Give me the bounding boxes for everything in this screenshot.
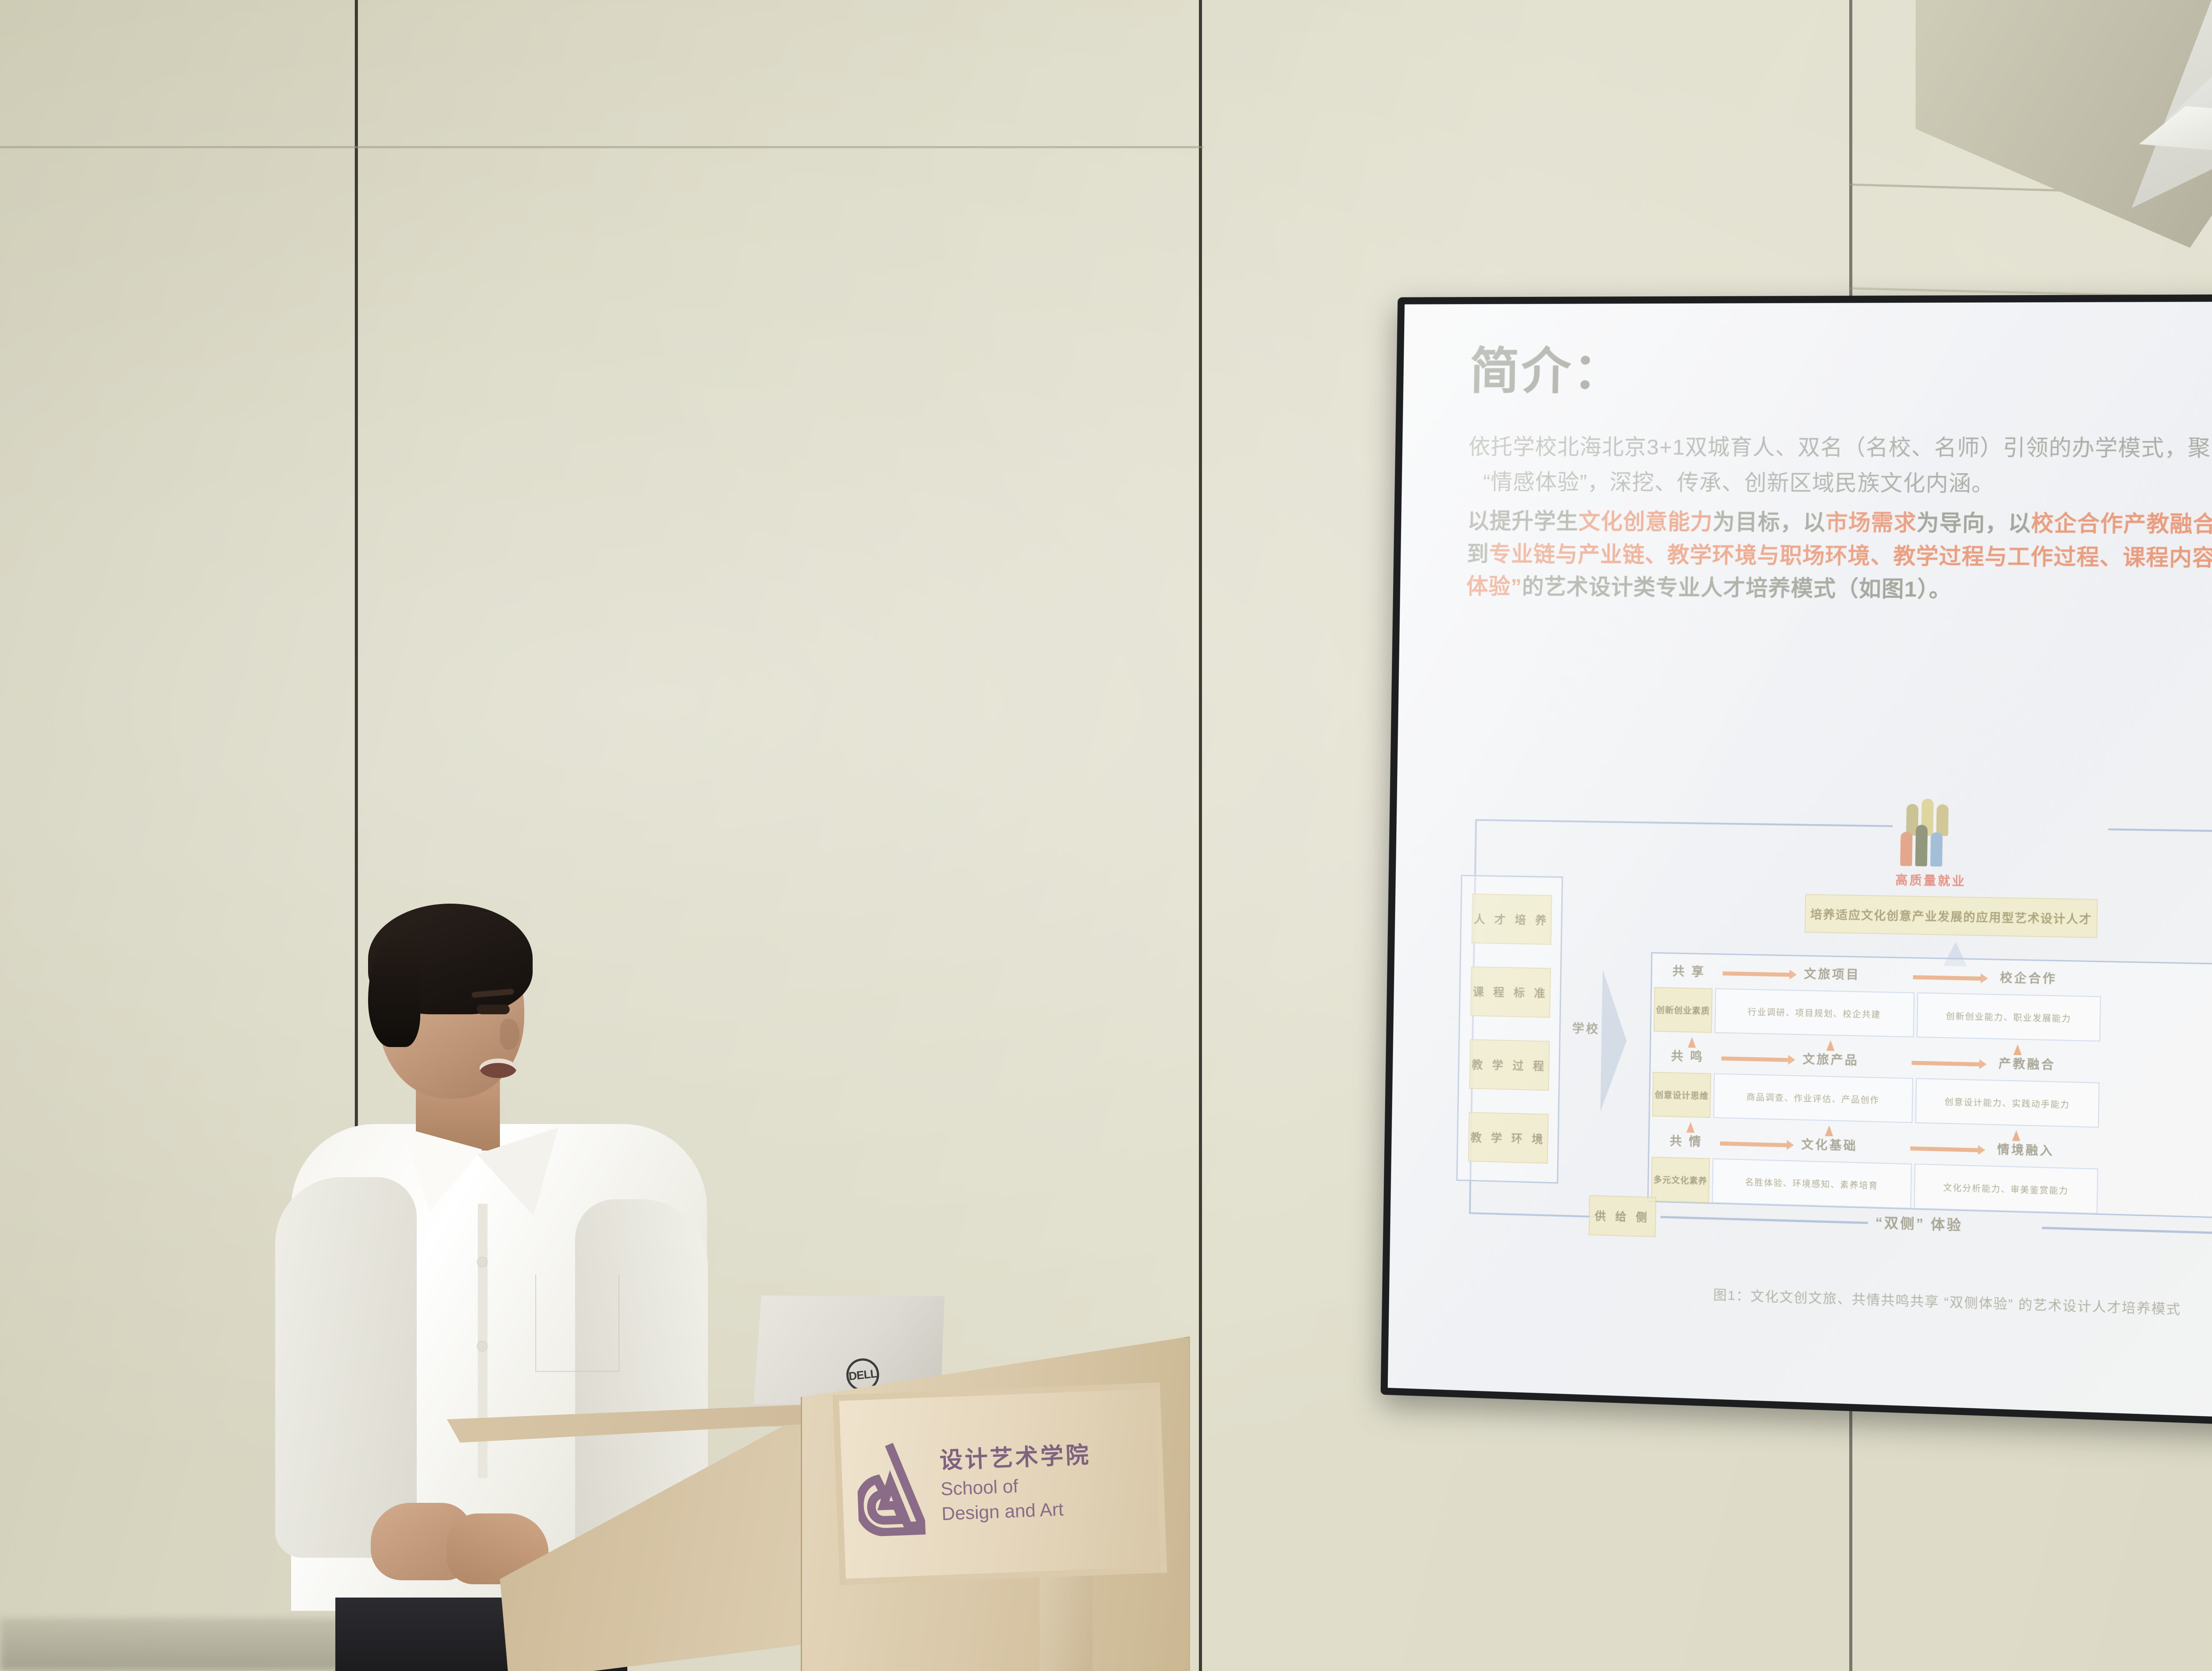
row-0-middle-label: 文旅项目 bbox=[1804, 964, 1860, 982]
row-0-cell-1: 创新创业能力、职业发展能力 bbox=[1916, 993, 2101, 1042]
bottom-line-right bbox=[2042, 1227, 2212, 1235]
display-screen: 简介： 依托学校北海北京3+1双城育人、双名（名校、名师）引领的办学模式，聚焦文… bbox=[1388, 300, 2212, 1440]
supply-side-tag: 供 给 侧 bbox=[1589, 1195, 1656, 1237]
plaque-english-line-2: Design and Art bbox=[941, 1496, 1093, 1526]
row-2-tag: 多元文化素养 bbox=[1651, 1157, 1710, 1203]
slide-paragraph-1-line-2: “情感体验”，深挖、传承、创新区域民族文化内涵。 bbox=[1483, 466, 2212, 503]
slide-content: 简介： 依托学校北海北京3+1双城育人、双名（名校、名师）引领的办学模式，聚焦文… bbox=[1388, 300, 2212, 1440]
row-1-left-label: 共 鸣 bbox=[1671, 1046, 1704, 1064]
row-2-cell-1: 文化分析能力、审美鉴赏能力 bbox=[1914, 1163, 2098, 1213]
left-group-label: 学校 bbox=[1572, 1019, 1600, 1037]
p2-seg2: 为目标，以 bbox=[1713, 510, 1826, 535]
row-0-right-label: 校企合作 bbox=[2000, 968, 2057, 986]
row-2-up-arrow-left bbox=[1686, 1122, 1695, 1133]
presentation-display[interactable]: 简介： 依托学校北海北京3+1双城育人、双名（名校、名师）引领的办学模式，聚焦文… bbox=[1381, 292, 2212, 1448]
p2-seg1: 以提升学生 bbox=[1467, 509, 1579, 534]
left-item-0: 人 才 培 养 bbox=[1471, 893, 1552, 945]
p2-highlight-2: 市场需求 bbox=[1825, 511, 1916, 535]
row-1-up-arrow-left bbox=[1688, 1037, 1696, 1048]
design-art-a-logo-icon bbox=[856, 1439, 926, 1537]
row-2-up-arrow-right bbox=[2012, 1130, 2020, 1141]
slide-paragraph-2: 以提升学生文化创意能力为目标，以市场需求为导向，以校企合作产教融合为路径，正确处… bbox=[1466, 505, 2212, 613]
lectern-podium: 设计艺术学院 School of Design and Art bbox=[447, 1336, 1190, 1671]
presentation-room-scene: 简介： 依托学校北海北京3+1双城育人、双名（名校、名师）引领的办学模式，聚焦文… bbox=[0, 0, 2212, 1671]
podium-plaque: 设计艺术学院 School of Design and Art bbox=[833, 1382, 1167, 1585]
wall-seam-horizontal bbox=[0, 146, 1203, 148]
bottom-center-label: “双侧” 体验 bbox=[1875, 1211, 1963, 1234]
row-1-tag: 创意设计思维 bbox=[1652, 1072, 1711, 1118]
row-1-cell-1: 创意设计能力、实践动手能力 bbox=[1915, 1078, 2100, 1128]
diagram-connector bbox=[1469, 1212, 1602, 1218]
row-1-up-arrow-mid bbox=[1826, 1040, 1835, 1051]
figure-caption: 图1：文化文创文旅、共情共鸣共享 “双侧体验” 的艺术设计人才培养模式 bbox=[1451, 1275, 2212, 1327]
diagram-connector bbox=[1475, 819, 1893, 827]
row-2-up-arrow-mid bbox=[1825, 1125, 1833, 1136]
p2-highlight-1: 文化创意能力 bbox=[1578, 510, 1713, 535]
p2-highlight-5: 专业链与产业链、教学环境与职场环境、教学过程与工作过程、课程内容与行业标准 bbox=[1489, 542, 2212, 571]
row-0-cell-0: 行业调研、项目规划、校企共建 bbox=[1715, 988, 1915, 1037]
row-1-up-arrow-right bbox=[2013, 1044, 2022, 1055]
presenter-left-arm bbox=[275, 1177, 417, 1558]
row-2-left-label: 共 情 bbox=[1670, 1131, 1703, 1149]
row-2-middle-label: 文化基础 bbox=[1801, 1135, 1858, 1154]
row-2-right-label: 情境融入 bbox=[1997, 1140, 2054, 1159]
podium-desk-surface bbox=[500, 1412, 810, 1671]
diagram-connector bbox=[2108, 828, 2212, 836]
wall-seam bbox=[1199, 0, 1202, 1671]
people-group-icon-row2 bbox=[1900, 824, 1943, 866]
presenter-mouth bbox=[480, 1059, 517, 1078]
left-item-2: 教 学 过 程 bbox=[1469, 1039, 1550, 1091]
left-item-1: 课 程 标 准 bbox=[1470, 966, 1551, 1018]
presenter-nose bbox=[500, 1019, 519, 1050]
podium-plaque-text: 设计艺术学院 School of Design and Art bbox=[939, 1440, 1094, 1526]
shirt-button bbox=[477, 1257, 488, 1267]
p2-seg3: 为导向，以 bbox=[1916, 511, 2032, 536]
left-item-3: 教 学 环 境 bbox=[1468, 1112, 1548, 1164]
podium-stem bbox=[1040, 1575, 1093, 1671]
slide-title: 简介： bbox=[1469, 344, 2212, 397]
slide-paragraph-1-line-1: 依托学校北海北京3+1双城育人、双名（名校、名师）引领的办学模式，聚焦文旅产业发… bbox=[1468, 431, 2212, 466]
row-0-tag: 创新创业素质 bbox=[1654, 987, 1713, 1033]
row-2-cell-0: 名胜体验、环境感知、素养培育 bbox=[1712, 1158, 1912, 1209]
left-group-arrow-icon bbox=[1600, 969, 1628, 1113]
row-1-middle-label: 文旅产品 bbox=[1802, 1049, 1859, 1068]
talent-training-model-diagram: 高质量就业 培养适应文化创意产业发展的应用型艺术设计人才 人 才 培 养 课 程… bbox=[1442, 792, 2212, 1294]
plaque-chinese-name: 设计艺术学院 bbox=[939, 1440, 1091, 1477]
p2-highlight-3: 校企合作产教融合 bbox=[2031, 512, 2212, 537]
row-0-left-label: 共 享 bbox=[1672, 962, 1705, 980]
top-node-label: 高质量就业 bbox=[1895, 870, 1966, 889]
row-1-right-label: 产教融合 bbox=[1998, 1054, 2055, 1073]
bottom-line-left bbox=[1660, 1216, 1868, 1224]
goal-box: 培养适应文化创意产业发展的应用型艺术设计人才 bbox=[1805, 894, 2098, 938]
presenter-eye bbox=[477, 1005, 510, 1014]
row-1-cell-0: 商品调查、作业评估、产品创作 bbox=[1713, 1073, 1913, 1123]
p2-seg7: 的艺术设计类专业人才培养模式（如图1）。 bbox=[1522, 575, 1952, 602]
